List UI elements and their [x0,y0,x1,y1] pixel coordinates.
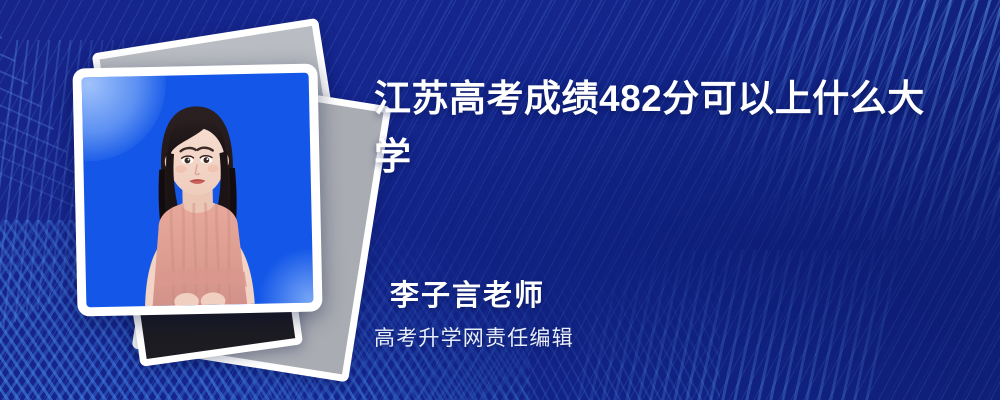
text-content: 江苏高考成绩482分可以上什么大学 李子言老师 高考升学网责任编辑 [372,0,962,400]
page-title: 江苏高考成绩482分可以上什么大学 [374,70,944,186]
author-photo-card [72,63,322,316]
author-photo [82,73,314,308]
banner-image: 江苏高考成绩482分可以上什么大学 李子言老师 高考升学网责任编辑 [0,0,1000,400]
photo-card-stack [60,30,350,360]
author-name: 李子言老师 [390,272,545,314]
author-role: 高考升学网责任编辑 [374,322,574,352]
portrait-illustration [82,73,314,308]
